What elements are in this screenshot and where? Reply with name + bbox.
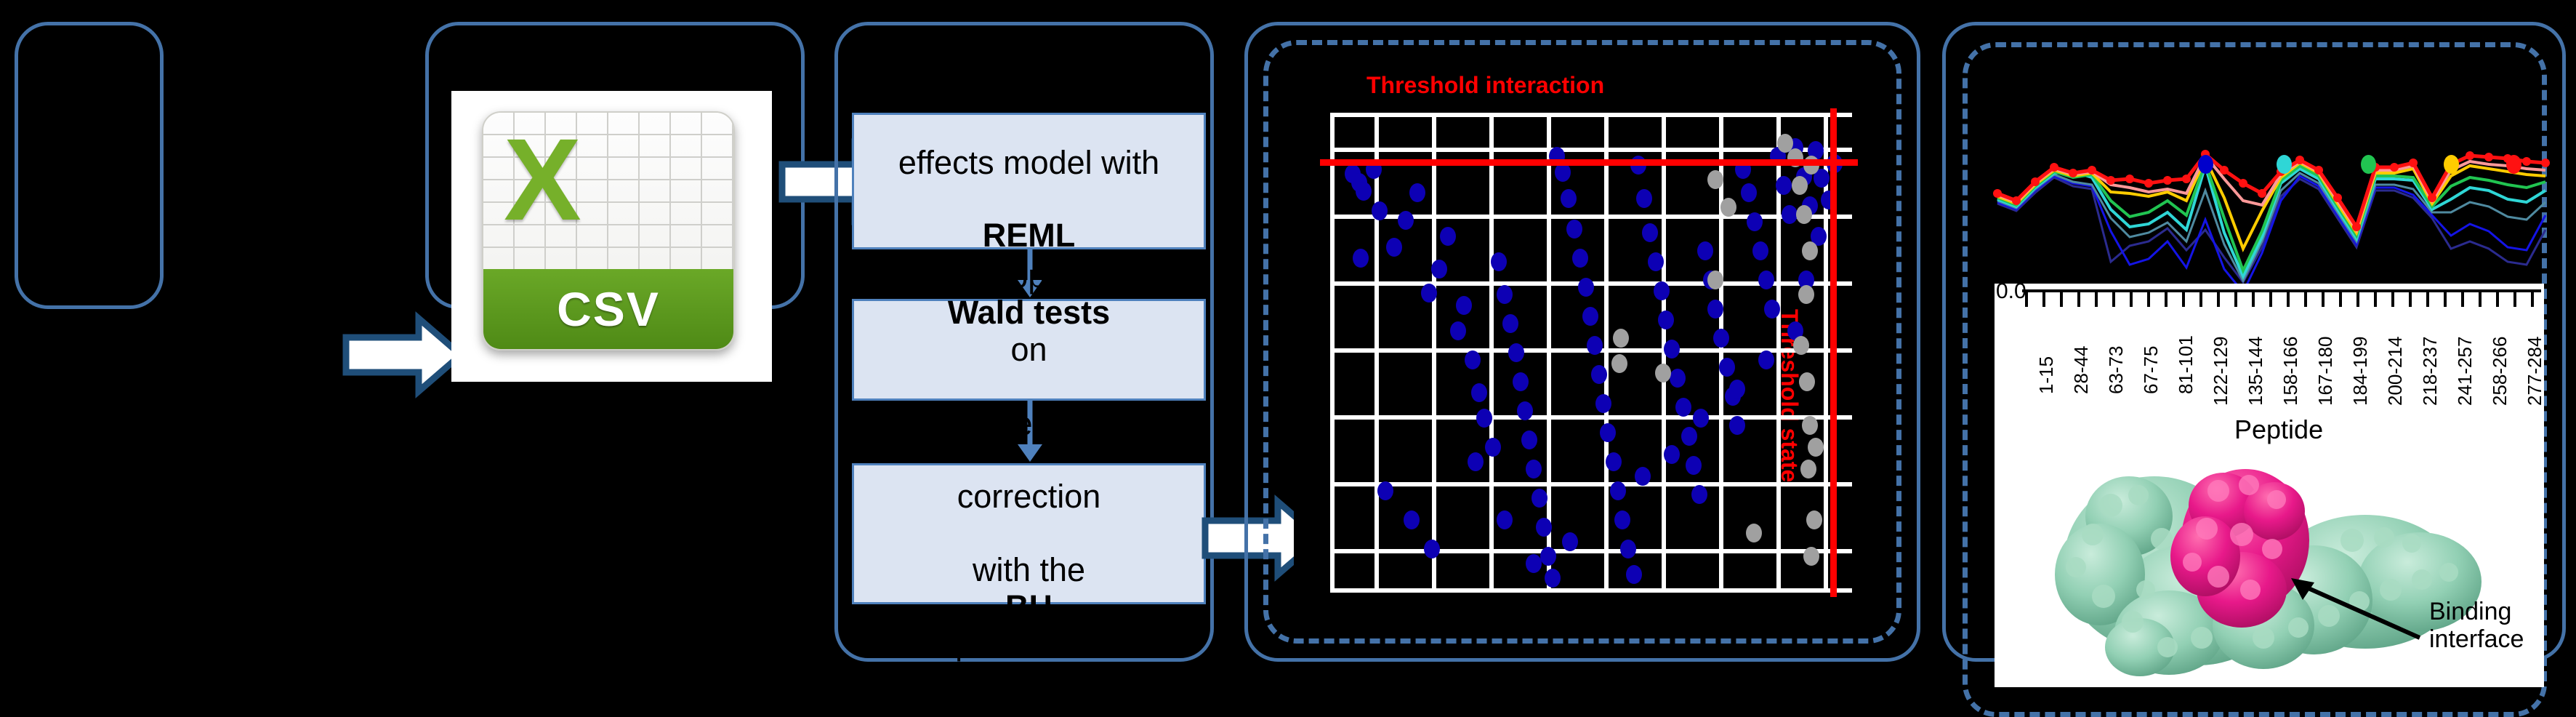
flowchart-canvas: X CSV Fit a linear mixed- effects model … <box>0 0 2576 687</box>
peptide-tick-label: 1-15 <box>2035 356 2058 394</box>
peptide-tick-label: 258-266 <box>2489 337 2511 406</box>
peptide-tick-label: 67-75 <box>2140 346 2162 395</box>
peptide-profile-chart <box>1993 124 2553 302</box>
peptide-tick-label: 63-73 <box>2105 346 2128 395</box>
legend-dot-2 <box>2277 155 2292 174</box>
csv-file-icon: X CSV <box>482 111 735 351</box>
wald-post: on <box>866 332 1193 368</box>
binding-interface-annotation: Binding interface <box>2429 598 2524 653</box>
csv-excel-x-letter: X <box>504 121 581 238</box>
peptide-tick-label: 184-199 <box>2349 337 2372 406</box>
peptide-tick-label: 218-237 <box>2419 337 2442 406</box>
x-axis-title-peptide: Peptide <box>2234 414 2323 445</box>
scatter-plot-region: Threshold interaction Threshold state <box>1294 69 1875 622</box>
threshold-state-line <box>1830 108 1837 597</box>
process-box-reml[interactable]: Fit a linear mixed- effects model with R… <box>852 113 1206 249</box>
csv-label-band: CSV <box>483 269 733 350</box>
threshold-interaction-line <box>1320 159 1858 166</box>
annotation-line-2: interface <box>2429 625 2524 653</box>
annotation-line-1: Binding <box>2429 598 2524 625</box>
wald-pre: Apply <box>866 258 1193 295</box>
peptide-tick-label: 81-101 <box>2175 335 2197 394</box>
reml-keyword: REML <box>983 217 1076 254</box>
bh-line-3-pre: with the <box>915 552 1142 588</box>
peptide-tick-label: 158-166 <box>2279 337 2302 406</box>
scatter-points <box>1330 113 1852 593</box>
peptide-tick-label: 28-44 <box>2070 346 2093 395</box>
reml-line-1: Fit a linear mixed- <box>894 71 1164 108</box>
structure-figure-card: 0.0 1-15 28-44 <box>1995 284 2544 687</box>
reml-line-2: effects model with <box>894 145 1164 181</box>
legend-dot-3 <box>2361 155 2376 174</box>
legend-dot-5 <box>2506 155 2521 174</box>
peptide-tick-label: 277-284 <box>2524 337 2544 406</box>
process-box-bh[interactable]: Multiple testing correction with the BH … <box>852 463 1206 604</box>
legend-dot-4 <box>2444 155 2459 174</box>
peptide-tick-label: 135-144 <box>2245 337 2267 406</box>
peptide-profile-svg <box>1993 124 2553 302</box>
peptide-tick-label: 241-257 <box>2454 337 2476 406</box>
bh-line-3-post: procedure <box>915 625 1142 662</box>
bh-line-2: correction <box>915 478 1142 515</box>
peptide-tick-label: 122-129 <box>2210 337 2232 406</box>
wald-keyword: Wald tests <box>948 294 1110 331</box>
bh-line-1: Multiple testing <box>915 406 1142 442</box>
scatter-title-threshold-interaction: Threshold interaction <box>1367 72 1604 99</box>
scatter-gridlines <box>1330 113 1852 593</box>
legend-dot-1 <box>2198 155 2213 174</box>
process-box-wald[interactable]: Apply Wald tests on the model parameters <box>852 299 1206 401</box>
arrow-input-to-data <box>340 311 467 398</box>
peptide-tick-label: 167-180 <box>2314 337 2337 406</box>
panel-input-stage <box>15 22 164 309</box>
peptide-tick-label: 200-214 <box>2384 337 2407 406</box>
csv-image-card: X CSV <box>451 91 772 382</box>
csv-label-text: CSV <box>557 281 660 337</box>
peptide-axis <box>1995 288 2544 313</box>
bh-keyword: BH <box>1005 588 1052 625</box>
